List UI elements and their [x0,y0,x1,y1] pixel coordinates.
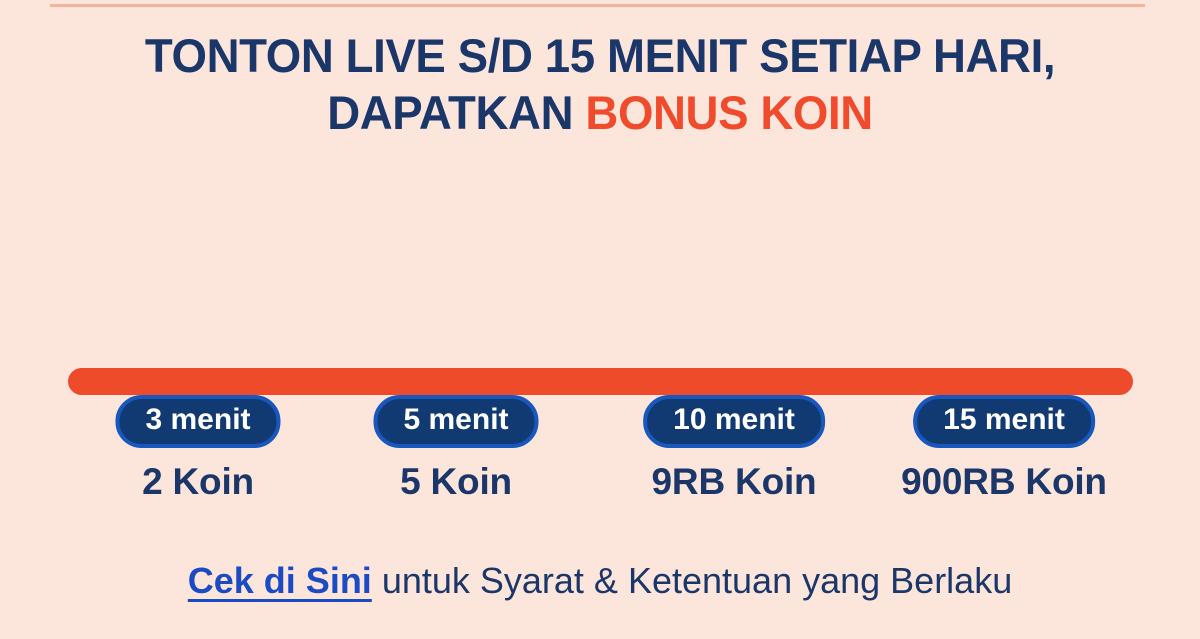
milestone-badge[interactable]: 3 menit [115,395,280,448]
milestone-reward-label: 900RB Koin [901,461,1107,503]
milestone-badge[interactable]: 10 menit [643,395,825,448]
milestone-reward-label: 5 Koin [400,461,512,503]
milestone-reward-label: 2 Koin [142,461,254,503]
terms-link[interactable]: Cek di Sini [188,560,372,601]
milestone-list: S 3 menit 2 Koin [0,0,1200,639]
terms-text: untuk Syarat & Ketentuan yang Berlaku [372,560,1012,601]
milestone-badge[interactable]: 5 menit [373,395,538,448]
milestone-reward-label: 9RB Koin [652,461,817,503]
milestone-badge[interactable]: 15 menit [913,395,1095,448]
terms-footer: Cek di Sini untuk Syarat & Ketentuan yan… [0,560,1200,602]
